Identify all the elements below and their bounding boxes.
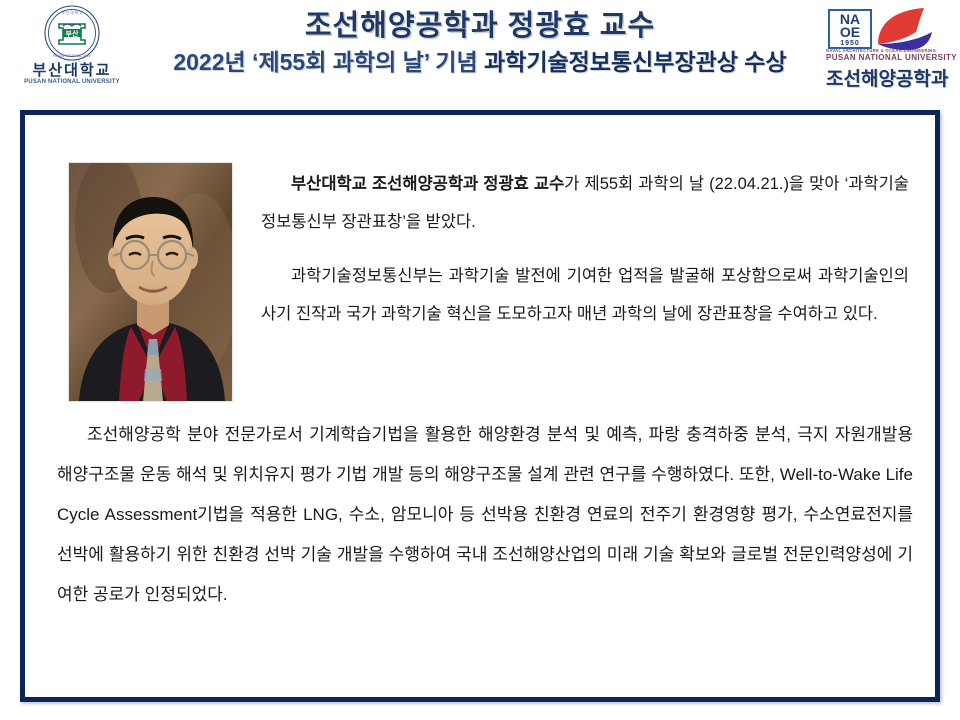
naoe-name-en: PUSAN NATIONAL UNIVERSITY (826, 53, 957, 62)
naoe-name-kr: 조선해양공학과 (826, 64, 948, 91)
subtitle-prefix: 2022년 ‘제55회 과학의 날’ 기념 (173, 49, 484, 75)
content-frame: 부산대학교 조선해양공학과 정광효 교수가 제55회 과학의 날 (22.04.… (20, 110, 940, 702)
paragraph-1-bold: 부산대학교 조선해양공학과 정광효 교수 (291, 175, 564, 193)
paragraph-spacer (261, 241, 909, 257)
pnu-logo-name-kr: 부산대학교 (18, 63, 126, 78)
paragraph-1: 부산대학교 조선해양공학과 정광효 교수가 제55회 과학의 날 (22.04.… (261, 165, 909, 241)
pnu-logo-name-en: PUSAN NATIONAL UNIVERSITY (18, 78, 126, 86)
professor-portrait-photo (68, 162, 233, 402)
paragraph-2: 과학기술정보통신부는 과학기술 발전에 기여한 업적을 발굴해 포상함으로써 과… (261, 257, 909, 333)
pnu-seal-icon: 부산 부 산 대 학 교 PUSAN NATIONAL UNIV. (43, 4, 101, 62)
page-title: 조선해양공학과 정광효 교수 (130, 8, 830, 44)
naoe-abbr-box: NA OE 1950 (828, 9, 872, 49)
svg-text:부산: 부산 (66, 29, 79, 38)
naoe-ship-icon: NA OE 1950 NAVAL ARCHITECTURE & OCEAN EN… (820, 2, 958, 60)
header-title-block: 조선해양공학과 정광효 교수 2022년 ‘제55회 과학의 날’ 기념 과학기… (130, 8, 830, 78)
naoe-year: 1950 (830, 39, 870, 48)
paragraph-3: 조선해양공학 분야 전문가로서 기계학습기법을 활용한 해양환경 분석 및 예측… (57, 415, 913, 615)
pnu-university-logo: 부산 부 산 대 학 교 PUSAN NATIONAL UNIV. 부산대학교 … (18, 4, 126, 96)
svg-text:부 산 대 학 교: 부 산 대 학 교 (61, 10, 83, 15)
achievement-text-block: 조선해양공학 분야 전문가로서 기계학습기법을 활용한 해양환경 분석 및 예측… (57, 415, 913, 615)
subtitle-award: 과학기술정보통신부장관상 수상 (484, 49, 787, 75)
page-header: 부산 부 산 대 학 교 PUSAN NATIONAL UNIV. 부산대학교 … (0, 0, 960, 106)
intro-text-block: 부산대학교 조선해양공학과 정광효 교수가 제55회 과학의 날 (22.04.… (261, 165, 909, 333)
page-subtitle: 2022년 ‘제55회 과학의 날’ 기념 과학기술정보통신부장관상 수상 (130, 46, 830, 78)
naoe-department-logo: NA OE 1950 NAVAL ARCHITECTURE & OCEAN EN… (820, 2, 960, 96)
naoe-abbr-line2: OE (830, 26, 870, 39)
svg-text:PUSAN NATIONAL UNIV.: PUSAN NATIONAL UNIV. (53, 54, 92, 58)
